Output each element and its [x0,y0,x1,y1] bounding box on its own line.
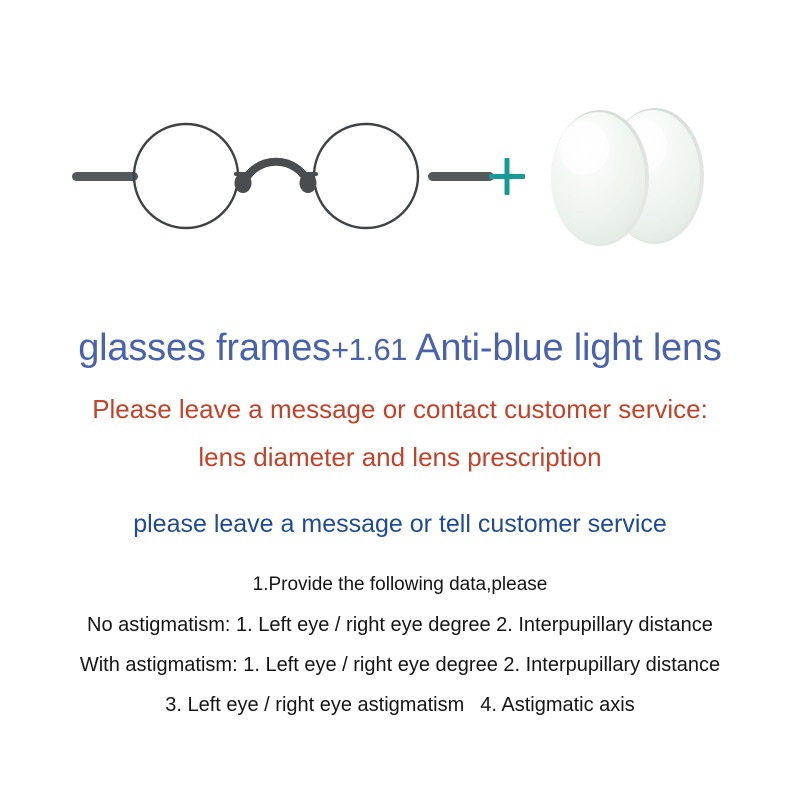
instruction-item-4: 4. Astigmatic axis [480,694,635,716]
product-title: glasses frames+1.61 Anti-blue light lens [0,322,800,376]
copy-block: glasses frames+1.61 Anti-blue light lens… [0,300,800,724]
lens-disc-front [551,110,649,246]
instruction-astigmatism-detail: 3. Left eye / right eye astigmatism4. As… [0,686,800,724]
eye-rim-right [314,124,418,228]
instruction-no-astigmatism: No astigmatism: 1. Left eye / right eye … [0,606,800,644]
instruction-item-3: 3. Left eye / right eye astigmatism [165,694,464,716]
notice-line-2: lens diameter and lens prescription [0,436,800,478]
bridge [243,162,309,185]
title-part-1: glasses frames [78,327,331,369]
instruction-with-astigmatism: With astigmatism: 1. Left eye / right ey… [0,646,800,684]
instructions-lead: 1.Provide the following data,please [0,566,800,604]
end-piece-right [302,172,318,176]
notice-line-3: please leave a message or tell customer … [0,504,800,544]
temple-arm-left [72,172,138,181]
title-index: +1.61 [331,332,407,367]
hero-illustration [0,88,800,288]
notice-line-1: Please leave a message or contact custom… [0,388,800,430]
plus-icon [489,158,525,195]
temple-arm-right [428,172,494,181]
title-part-2: Anti-blue light lens [407,327,722,369]
product-graphic-page: glasses frames+1.61 Anti-blue light lens… [0,0,800,800]
eye-rim-left [134,124,238,228]
end-piece-left [234,172,250,176]
